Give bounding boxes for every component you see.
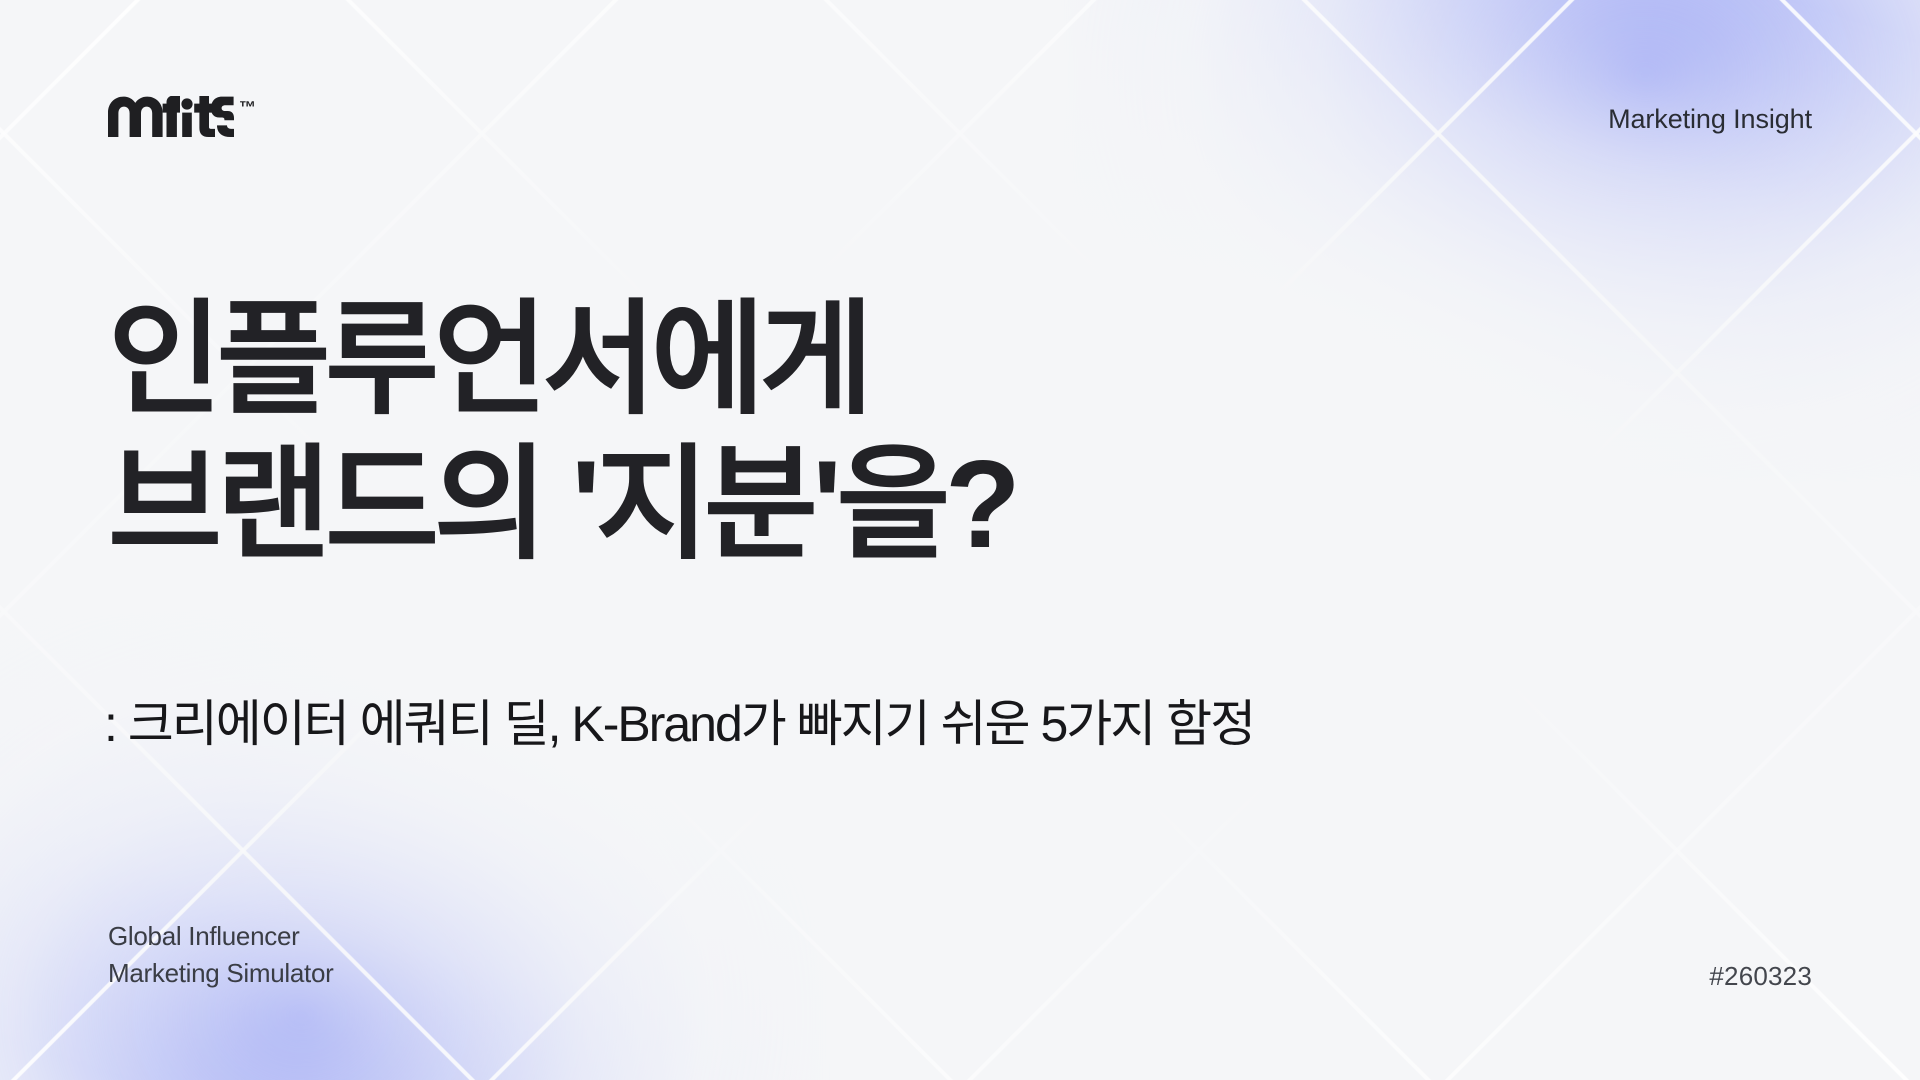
category-label: Marketing Insight (1608, 104, 1812, 135)
card-footer: Global Influencer Marketing Simulator #2… (108, 918, 1812, 992)
reference-id-label: #260323 (1709, 961, 1812, 992)
trademark-symbol: ™ (239, 98, 257, 118)
mfits-wordmark-icon (108, 96, 234, 143)
page-title: 인플루언서에게 브랜드의 '지분'을? (108, 288, 1015, 578)
card-header: ™ Marketing Insight (108, 96, 1812, 143)
card-content: ™ Marketing Insight 인플루언서에게 브랜드의 '지분'을? … (0, 0, 1920, 1080)
product-name-label: Global Influencer Marketing Simulator (108, 918, 334, 992)
page-subtitle: : 크리에이터 에쿼티 딜, K-Brand가 빠지기 쉬운 5가지 함정 (104, 684, 1254, 756)
brand-logo[interactable]: ™ (108, 96, 257, 143)
insight-card-canvas: ™ Marketing Insight 인플루언서에게 브랜드의 '지분'을? … (0, 0, 1920, 1080)
